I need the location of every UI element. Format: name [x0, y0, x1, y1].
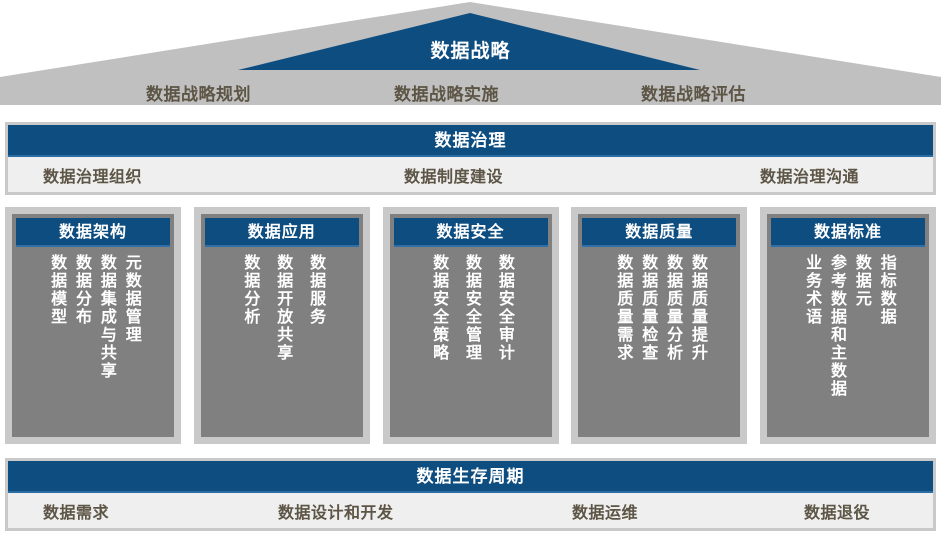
- lifecycle-sub-label-1: 数据设计和开发: [278, 499, 394, 523]
- pillar-column-label: 数据质量提升: [687, 254, 706, 362]
- roof-title: 数据战略: [0, 36, 941, 63]
- pillar-column-label: 数据分布: [71, 254, 90, 326]
- roof-sub-label-0: 数据战略规划: [146, 80, 251, 105]
- pillar-row: 数据架构 数据模型 数据分布 数据集成与共享 元数据管理 数据应用 数据分析 数…: [5, 207, 936, 444]
- pillar-column-label: 数据质量分析: [662, 254, 681, 362]
- lifecycle-title: 数据生存周期: [8, 461, 933, 493]
- roof-sub-label-1: 数据战略实施: [394, 80, 499, 105]
- lifecycle-sub-label-2: 数据运维: [572, 499, 638, 523]
- pillar-data-standard: 数据标准 业务术语 参考数据和主数据 数据元 指标数据: [760, 207, 936, 444]
- pillar-column-label: 数据元: [851, 254, 870, 308]
- pillar-data-quality: 数据质量 数据质量需求 数据质量检查 数据质量分析 数据质量提升: [571, 207, 747, 444]
- lifecycle-sub-label-0: 数据需求: [43, 499, 109, 523]
- pillar-columns: 业务术语 参考数据和主数据 数据元 指标数据: [767, 247, 929, 398]
- pillar-column-label: 数据质量检查: [637, 254, 656, 362]
- pillar-title: 数据标准: [771, 218, 925, 247]
- pillar-columns: 数据安全策略 数据安全管理 数据安全审计: [390, 247, 552, 362]
- pillar-columns: 数据质量需求 数据质量检查 数据质量分析 数据质量提升: [578, 247, 740, 362]
- roof-sub-label-2: 数据战略评估: [641, 80, 746, 105]
- pillar-data-architecture: 数据架构 数据模型 数据分布 数据集成与共享 元数据管理: [5, 207, 181, 444]
- lifecycle-band-inner: 数据生存周期 数据需求 数据设计和开发 数据运维 数据退役: [8, 461, 933, 528]
- governance-title: 数据治理: [8, 125, 933, 157]
- governance-sub-label-1: 数据制度建设: [404, 163, 503, 187]
- pillar-columns: 数据分析 数据开放共享 数据服务: [201, 247, 363, 362]
- pillar-column-label: 指标数据: [876, 254, 895, 326]
- pillar-columns: 数据模型 数据分布 数据集成与共享 元数据管理: [12, 247, 174, 380]
- pillar-data-security: 数据安全 数据安全策略 数据安全管理 数据安全审计: [383, 207, 559, 444]
- lifecycle-sub-label-3: 数据退役: [804, 499, 870, 523]
- governance-band: 数据治理 数据治理组织 数据制度建设 数据治理沟通: [5, 122, 936, 195]
- pillar-column-label: 数据质量需求: [613, 254, 632, 362]
- pillar-column-label: 数据服务: [305, 254, 324, 326]
- pillar-title: 数据架构: [16, 218, 170, 247]
- strategy-roof: 数据战略 数据战略规划 数据战略实施 数据战略评估: [0, 0, 941, 112]
- pillar-title: 数据应用: [205, 218, 359, 247]
- lifecycle-sub-labels: 数据需求 数据设计和开发 数据运维 数据退役: [8, 493, 933, 528]
- pillar-column-label: 参考数据和主数据: [826, 254, 845, 398]
- data-governance-framework-diagram: 数据战略 数据战略规划 数据战略实施 数据战略评估 数据治理 数据治理组织 数据…: [0, 0, 941, 536]
- pillar-column-label: 数据安全管理: [461, 254, 480, 362]
- pillar-column-label: 元数据管理: [121, 254, 140, 344]
- pillar-column-label: 数据分析: [239, 254, 258, 326]
- pillar-column-label: 数据开放共享: [272, 254, 291, 362]
- lifecycle-band: 数据生存周期 数据需求 数据设计和开发 数据运维 数据退役: [5, 458, 936, 531]
- pillar-body: 数据架构 数据模型 数据分布 数据集成与共享 元数据管理: [12, 214, 174, 437]
- pillar-data-application: 数据应用 数据分析 数据开放共享 数据服务: [194, 207, 370, 444]
- pillar-column-label: 数据安全策略: [428, 254, 447, 362]
- pillar-column-label: 业务术语: [801, 254, 820, 326]
- pillar-column-label: 数据模型: [46, 254, 65, 326]
- governance-sub-label-0: 数据治理组织: [43, 163, 142, 187]
- pillar-body: 数据安全 数据安全策略 数据安全管理 数据安全审计: [390, 214, 552, 437]
- pillar-body: 数据质量 数据质量需求 数据质量检查 数据质量分析 数据质量提升: [578, 214, 740, 437]
- roof-sub-labels: 数据战略规划 数据战略实施 数据战略评估: [0, 80, 941, 108]
- pillar-title: 数据安全: [394, 218, 548, 247]
- pillar-body: 数据应用 数据分析 数据开放共享 数据服务: [201, 214, 363, 437]
- governance-sub-label-2: 数据治理沟通: [760, 163, 859, 187]
- pillar-body: 数据标准 业务术语 参考数据和主数据 数据元 指标数据: [767, 214, 929, 437]
- governance-band-inner: 数据治理 数据治理组织 数据制度建设 数据治理沟通: [8, 125, 933, 192]
- pillar-column-label: 数据集成与共享: [96, 254, 115, 380]
- pillar-column-label: 数据安全审计: [494, 254, 513, 362]
- governance-sub-labels: 数据治理组织 数据制度建设 数据治理沟通: [8, 157, 933, 192]
- pillar-title: 数据质量: [582, 218, 736, 247]
